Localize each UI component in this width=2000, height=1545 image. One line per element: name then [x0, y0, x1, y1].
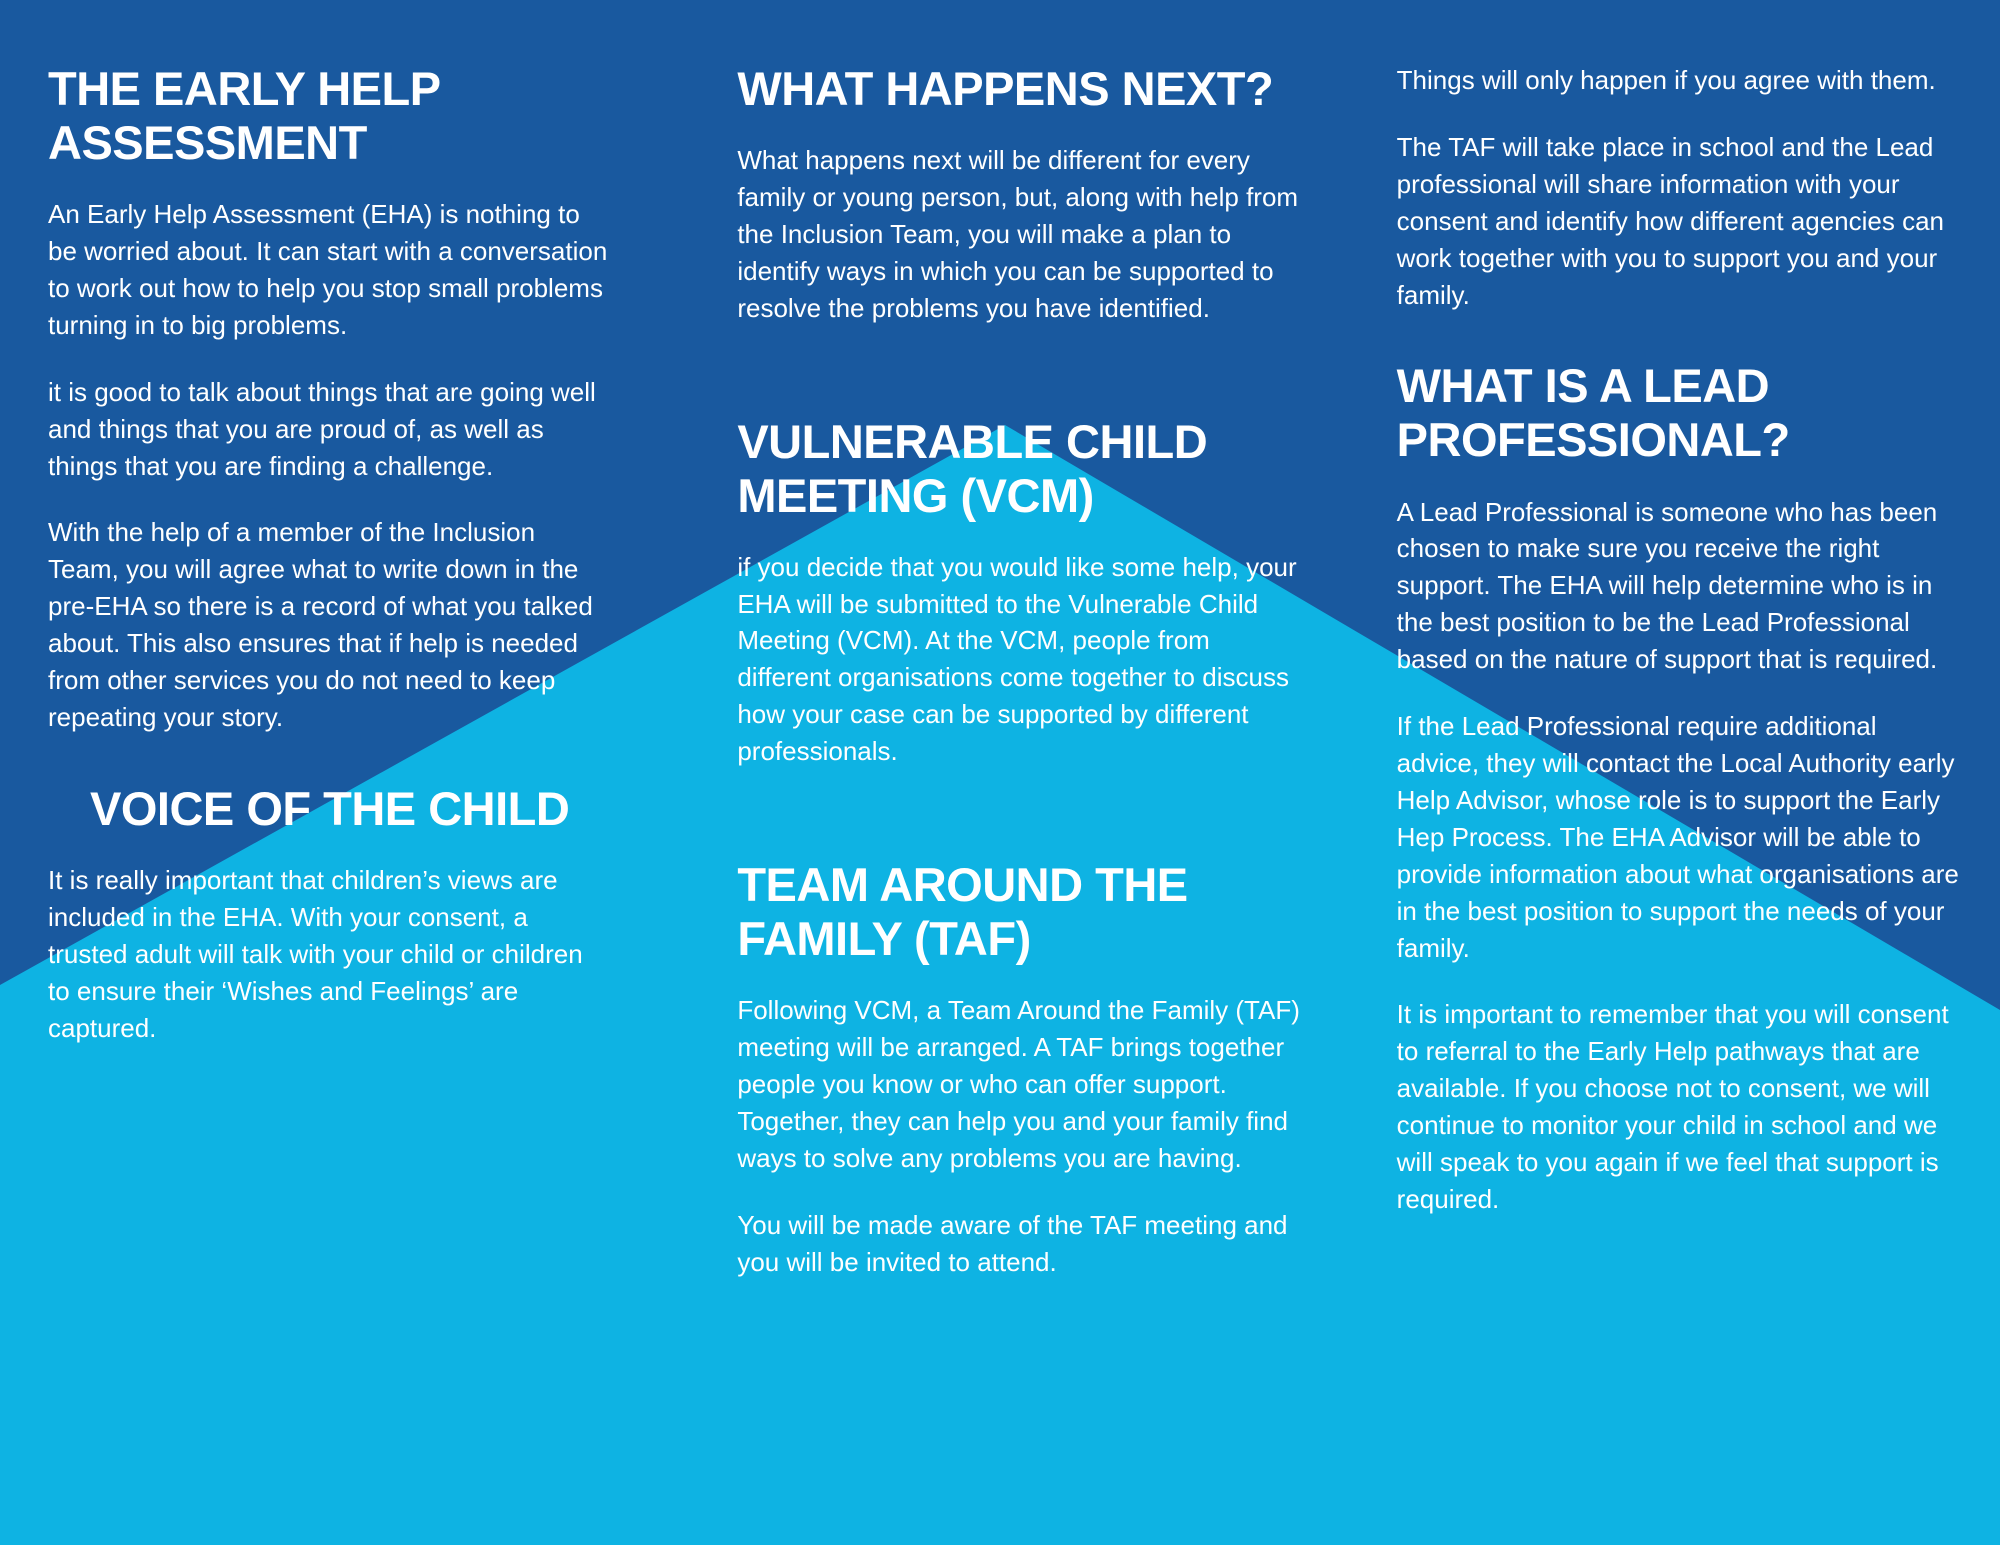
column-middle: WHAT HAPPENS NEXT? What happens next wil… — [737, 62, 1340, 1281]
heading-what-is-a-lead-professional: WHAT IS A LEAD PROFESSIONAL? — [1397, 359, 1960, 467]
paragraph-taf-invitation: You will be made aware of the TAF meetin… — [737, 1207, 1300, 1281]
paragraph-agree-with-them: Things will only happen if you agree wit… — [1397, 62, 1960, 99]
spacer — [48, 766, 611, 782]
spacer — [737, 800, 1300, 858]
heading-voice-of-the-child: VOICE OF THE CHILD — [48, 782, 611, 836]
paragraph-lead-professional-advice: If the Lead Professional require additio… — [1397, 708, 1960, 966]
heading-what-happens-next: WHAT HAPPENS NEXT? — [737, 62, 1300, 116]
heading-early-help-assessment: THE EARLY HELP ASSESSMENT — [48, 62, 611, 170]
paragraph-consent-reminder: It is important to remember that you wil… — [1397, 996, 1960, 1217]
heading-vulnerable-child-meeting: VULNERABLE CHILD MEETING (VCM) — [737, 415, 1300, 523]
poster-columns: THE EARLY HELP ASSESSMENT An Early Help … — [0, 0, 2000, 1545]
paragraph-lead-professional-definition: A Lead Professional is someone who has b… — [1397, 494, 1960, 679]
poster-page: THE EARLY HELP ASSESSMENT An Early Help … — [0, 0, 2000, 1545]
paragraph-taf-in-school: The TAF will take place in school and th… — [1397, 129, 1960, 314]
column-right: Things will only happen if you agree wit… — [1397, 62, 1960, 1218]
paragraph-what-happens-next: What happens next will be different for … — [737, 142, 1300, 327]
spacer — [737, 357, 1300, 415]
paragraph-eha-intro: An Early Help Assessment (EHA) is nothin… — [48, 196, 611, 344]
paragraph-voice-of-the-child: It is really important that children’s v… — [48, 862, 611, 1047]
paragraph-taf-description: Following VCM, a Team Around the Family … — [737, 992, 1300, 1177]
spacer — [1397, 343, 1960, 359]
heading-team-around-the-family: TEAM AROUND THE FAMILY (TAF) — [737, 858, 1300, 966]
paragraph-vulnerable-child-meeting: if you decide that you would like some h… — [737, 549, 1300, 770]
paragraph-eha-inclusion-team: With the help of a member of the Inclusi… — [48, 514, 611, 735]
column-left: THE EARLY HELP ASSESSMENT An Early Help … — [48, 62, 681, 1046]
paragraph-eha-talk: it is good to talk about things that are… — [48, 374, 611, 485]
